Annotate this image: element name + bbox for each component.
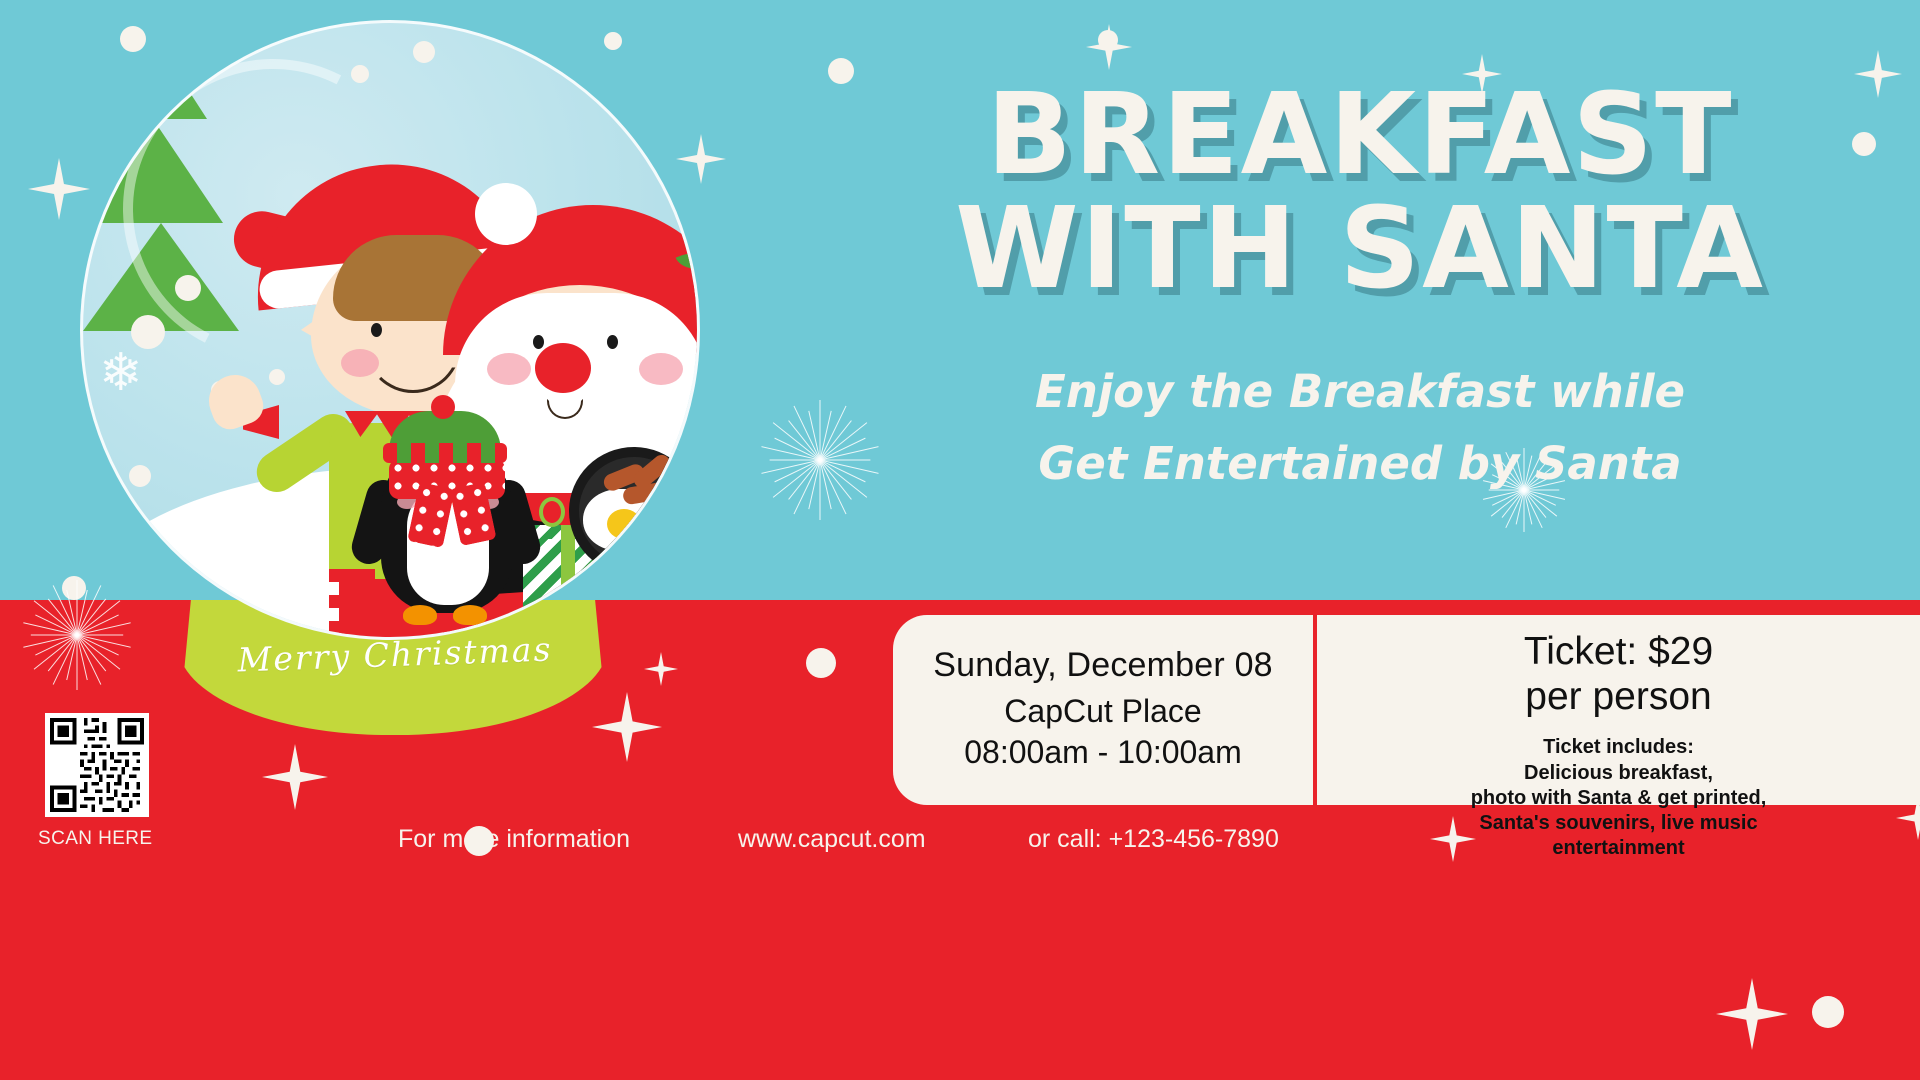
sparkle-star-icon — [262, 744, 328, 810]
ticket-panel: Ticket: $29 per person Ticket includes: … — [1317, 615, 1920, 805]
globe-snowflake-icon: ❄ — [99, 347, 143, 399]
decor-dot — [806, 648, 836, 678]
santa-eye — [533, 335, 544, 349]
event-venue: CapCut Place 08:00am - 10:00am — [964, 691, 1242, 773]
sparkle-star-icon — [1086, 24, 1132, 70]
globe-snow-dot — [129, 465, 151, 487]
includes-line: Delicious breakfast, — [1471, 761, 1767, 786]
sparkle-star-icon — [1430, 816, 1476, 862]
penguin-beanie-band — [383, 443, 507, 463]
event-date: Sunday, December 08 — [933, 646, 1273, 685]
poster-title: BREAKFAST WITH SANTA — [840, 78, 1880, 306]
santa-hat-pompom — [475, 183, 537, 245]
gift-bow — [539, 497, 565, 527]
sparkle-star-icon — [1716, 978, 1788, 1050]
title-line-1: BREAKFAST — [840, 78, 1880, 192]
decor-dot — [1812, 996, 1844, 1028]
website-link[interactable]: www.capcut.com — [738, 825, 926, 854]
phone-number[interactable]: or call: +123-456-7890 — [1028, 825, 1279, 854]
poster-subtitle: Enjoy the Breakfast while Get Entertaine… — [840, 356, 1880, 500]
penguin-foot — [453, 605, 487, 625]
globe-snow-dot — [175, 275, 201, 301]
santa-cheek — [487, 353, 531, 385]
gift-ribbon — [561, 525, 575, 613]
qr-code-image — [50, 718, 144, 812]
event-details-panel: Sunday, December 08 CapCut Place 08:00am… — [893, 615, 1313, 805]
venue-name: CapCut Place — [964, 691, 1242, 732]
ticket-price-unit: per person — [1524, 674, 1713, 719]
ticket-includes: Ticket includes: Delicious breakfast, ph… — [1471, 735, 1767, 861]
santa-cheek — [639, 353, 683, 385]
subtitle-line-1: Enjoy the Breakfast while — [840, 356, 1880, 428]
poster-canvas: ❄ ❄ ❄ Merry Christmas ❄ — [0, 0, 1920, 1080]
includes-line: photo with Santa & get printed, — [1471, 786, 1767, 811]
event-info-card: Sunday, December 08 CapCut Place 08:00am… — [893, 615, 1920, 805]
santa-nose — [535, 343, 591, 393]
penguin-foot — [403, 605, 437, 625]
globe-snow-dot — [269, 369, 285, 385]
qr-code[interactable] — [45, 713, 149, 817]
ticket-price-amount: Ticket: $29 — [1524, 629, 1713, 674]
santa-eye — [607, 335, 618, 349]
globe-snow-dot — [413, 41, 435, 63]
globe-dome: ❄ — [80, 20, 700, 640]
globe-snow-dot — [351, 65, 369, 83]
ticket-price: Ticket: $29 per person — [1524, 629, 1713, 719]
snow-globe-illustration: Merry Christmas ❄ — [60, 10, 720, 710]
more-information-label: For more information — [398, 825, 630, 854]
includes-line: entertainment — [1471, 836, 1767, 861]
scan-here-label: SCAN HERE — [38, 828, 152, 850]
title-line-2: WITH SANTA — [840, 192, 1880, 306]
fried-egg-yolk — [607, 509, 641, 539]
holly-berry — [689, 285, 700, 301]
venue-time: 08:00am - 10:00am — [964, 732, 1242, 773]
subtitle-line-2: Get Entertained by Santa — [840, 428, 1880, 500]
includes-heading: Ticket includes: — [1471, 735, 1767, 760]
penguin-beanie-pompom — [431, 395, 455, 419]
includes-line: Santa's souvenirs, live music — [1471, 811, 1767, 836]
elf-eye — [371, 323, 382, 337]
